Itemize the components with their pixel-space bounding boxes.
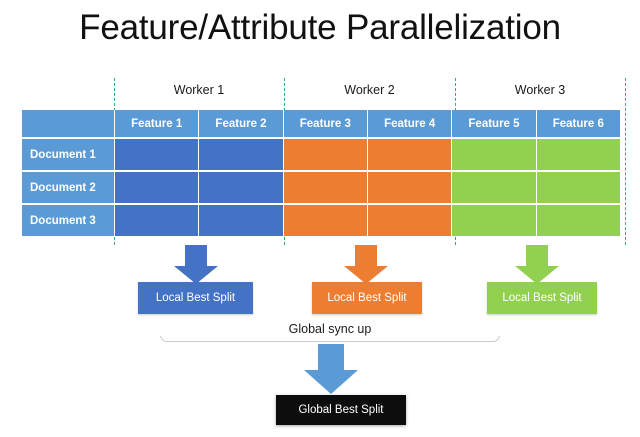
column-header-feature-3: Feature 3 <box>283 110 367 137</box>
cell-doc2-feature6 <box>536 172 620 203</box>
column-header-feature-5: Feature 5 <box>451 110 535 137</box>
table-row: Document 1 <box>22 139 620 170</box>
arrow-shaft <box>318 344 344 372</box>
arrow-shaft <box>526 245 548 268</box>
local-best-split-box-3: Local Best Split <box>487 282 597 314</box>
cell-doc2-feature1 <box>114 172 198 203</box>
cell-doc1-feature5 <box>451 139 535 170</box>
table-corner-cell <box>22 110 114 137</box>
cell-doc2-feature5 <box>451 172 535 203</box>
cell-doc3-feature1 <box>114 205 198 236</box>
row-header-document-2: Document 2 <box>22 172 114 203</box>
down-arrow-icon-worker-1 <box>172 245 220 283</box>
cell-doc2-feature3 <box>283 172 367 203</box>
cell-doc3-feature3 <box>283 205 367 236</box>
cell-doc2-feature2 <box>198 172 282 203</box>
column-header-feature-4: Feature 4 <box>367 110 451 137</box>
cell-doc3-feature5 <box>451 205 535 236</box>
column-header-feature-2: Feature 2 <box>198 110 282 137</box>
worker-label-2: Worker 2 <box>284 83 455 97</box>
global-best-split-box: Global Best Split <box>276 395 406 425</box>
page-title: Feature/Attribute Parallelization <box>0 8 640 48</box>
down-arrow-icon-global <box>296 344 366 394</box>
worker-label-1: Worker 1 <box>114 83 284 97</box>
row-header-document-1: Document 1 <box>22 139 114 170</box>
table-row: Document 2 <box>22 172 620 203</box>
cell-doc1-feature2 <box>198 139 282 170</box>
cell-doc3-feature2 <box>198 205 282 236</box>
column-header-feature-1: Feature 1 <box>114 110 198 137</box>
arrow-shaft <box>355 245 377 268</box>
cell-doc3-feature4 <box>367 205 451 236</box>
global-sync-label: Global sync up <box>160 322 500 336</box>
local-best-split-box-1: Local Best Split <box>138 282 253 314</box>
cell-doc1-feature6 <box>536 139 620 170</box>
row-header-document-3: Document 3 <box>22 205 114 236</box>
local-best-split-box-2: Local Best Split <box>312 282 422 314</box>
table-row: Document 3 <box>22 205 620 236</box>
worker-label-3: Worker 3 <box>455 83 625 97</box>
cell-doc1-feature3 <box>283 139 367 170</box>
arrow-shaft <box>185 245 207 268</box>
feature-document-table: Feature 1 Feature 2 Feature 3 Feature 4 … <box>22 110 620 236</box>
cell-doc3-feature6 <box>536 205 620 236</box>
arrow-head <box>304 370 358 394</box>
table-header-row: Feature 1 Feature 2 Feature 3 Feature 4 … <box>22 110 620 137</box>
cell-doc1-feature4 <box>367 139 451 170</box>
cell-doc2-feature4 <box>367 172 451 203</box>
cell-doc1-feature1 <box>114 139 198 170</box>
diagram-canvas: Feature/Attribute Parallelization Worker… <box>0 0 640 437</box>
down-arrow-icon-worker-2 <box>342 245 390 283</box>
column-header-feature-6: Feature 6 <box>536 110 620 137</box>
down-arrow-icon-worker-3 <box>513 245 561 283</box>
worker-divider-4 <box>625 78 626 245</box>
